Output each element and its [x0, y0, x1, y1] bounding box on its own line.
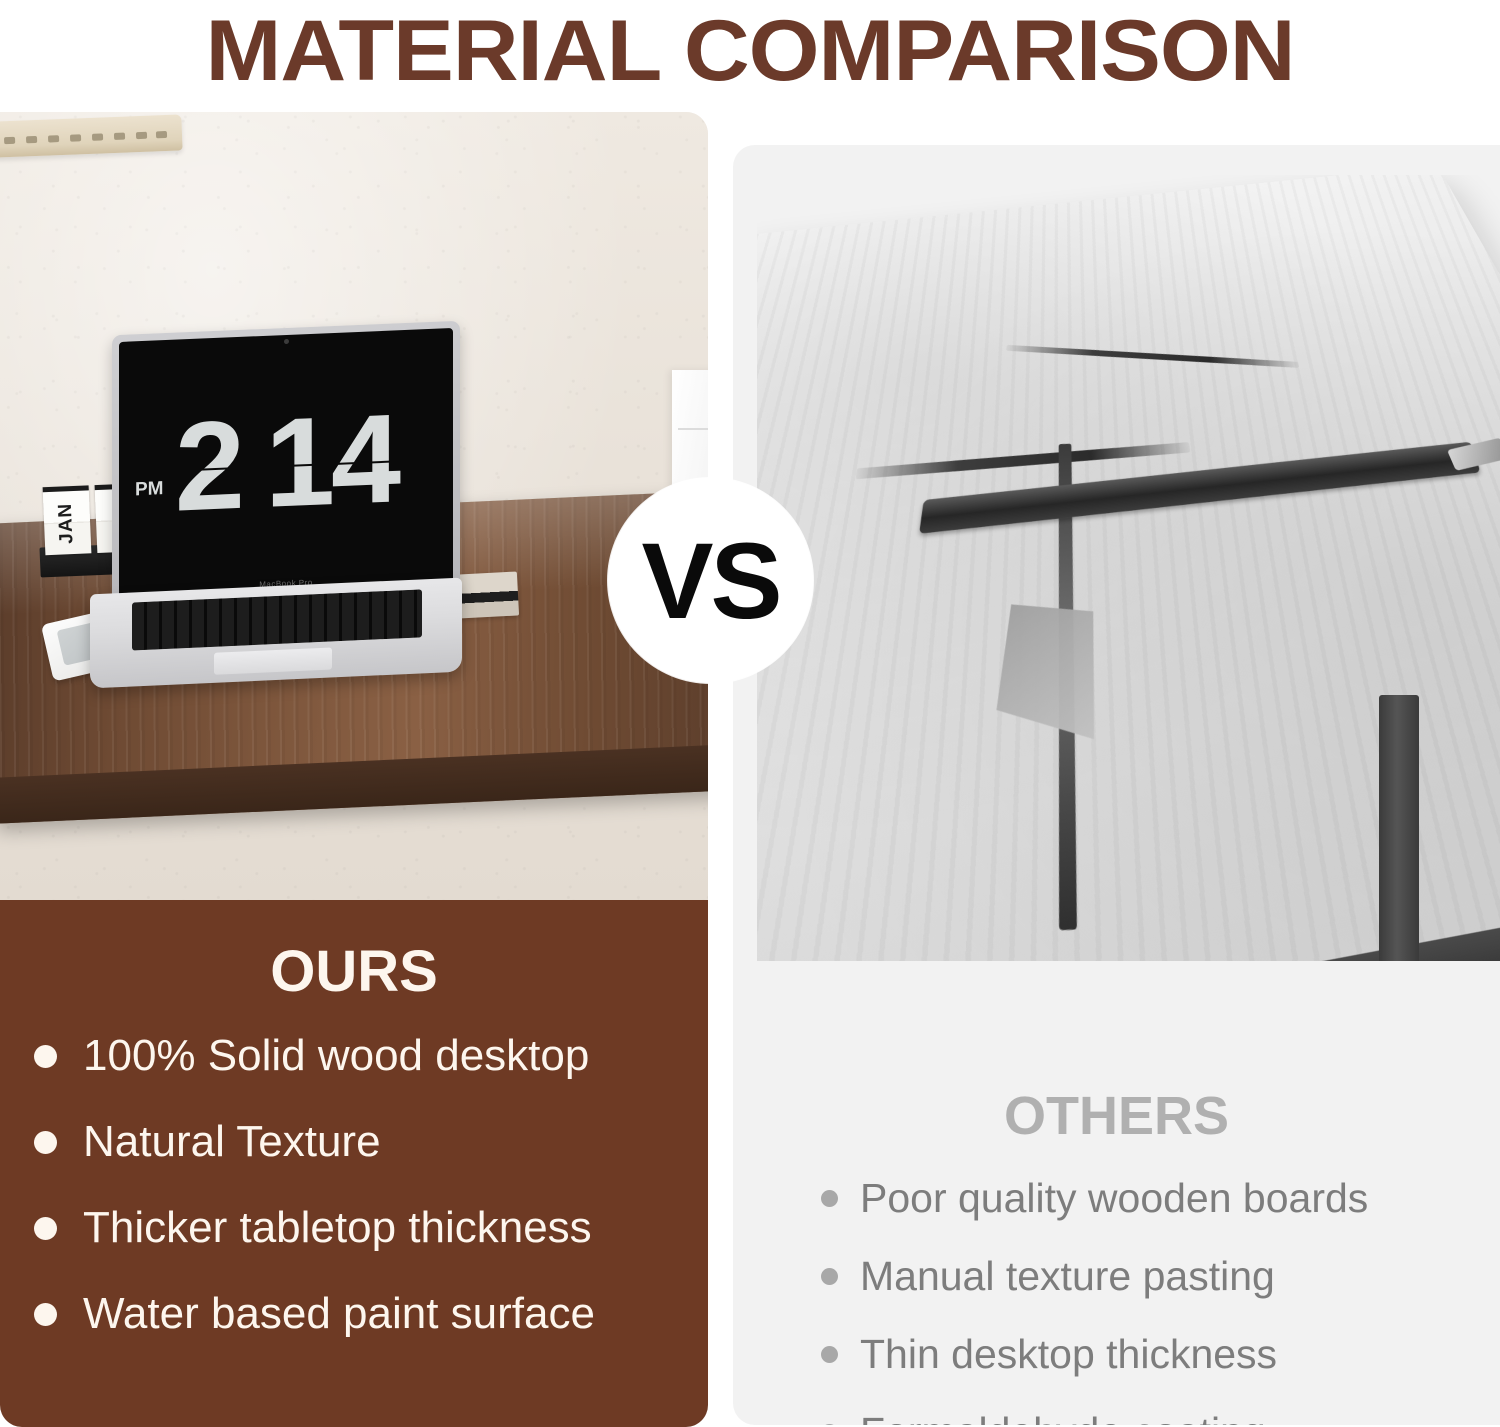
bullet-icon — [34, 1217, 57, 1240]
laptop-keyboard — [132, 589, 422, 650]
bullet-icon — [34, 1131, 57, 1154]
bullet-icon — [821, 1346, 838, 1363]
list-item-label: 100% Solid wood desktop — [83, 1031, 589, 1081]
list-item: Thin desktop thickness — [821, 1331, 1481, 1377]
others-heading: OTHERS — [733, 1085, 1500, 1147]
list-item-label: Poor quality wooden boards — [860, 1175, 1368, 1221]
pegboard-shelf-icon — [0, 114, 183, 157]
list-item-label: Thicker tabletop thickness — [83, 1203, 592, 1253]
list-item-label: Manual texture pasting — [860, 1253, 1275, 1299]
clock-hour: 2 — [175, 409, 241, 522]
list-item: 100% Solid wood desktop — [34, 1031, 682, 1081]
bullet-icon — [34, 1303, 57, 1326]
bullet-icon — [34, 1045, 57, 1068]
ours-photo: JAN 0 1 PM 2 14 MacBook Pro — [0, 112, 708, 900]
others-column: OTHERS Poor quality wooden boards Manual… — [733, 145, 1500, 1425]
flip-clock: 2 14 — [119, 328, 453, 597]
others-photo — [757, 175, 1500, 961]
ours-heading: OURS — [0, 938, 708, 1005]
list-item: Water based paint surface — [34, 1289, 682, 1339]
list-item: Thicker tabletop thickness — [34, 1203, 682, 1253]
list-item-label: Natural Texture — [83, 1117, 381, 1167]
bullet-icon — [821, 1268, 838, 1285]
laptop: PM 2 14 MacBook Pro — [90, 328, 462, 680]
laptop-lid: PM 2 14 MacBook Pro — [112, 321, 460, 608]
list-item: Natural Texture — [34, 1117, 682, 1167]
laptop-trackpad — [214, 647, 332, 674]
list-item: Manual texture pasting — [821, 1253, 1481, 1299]
bullet-icon — [821, 1424, 838, 1426]
list-item: Poor quality wooden boards — [821, 1175, 1481, 1221]
list-item-label: Thin desktop thickness — [860, 1331, 1277, 1377]
list-item-label: Formaldehyde coating — [860, 1409, 1266, 1425]
laptop-screen: PM 2 14 MacBook Pro — [119, 328, 453, 597]
ours-panel: OURS 100% Solid wood desktop Natural Tex… — [0, 900, 708, 1427]
calendar-month: JAN — [43, 485, 92, 555]
laptop-base — [90, 578, 462, 689]
metal-table-leg — [1379, 695, 1419, 961]
material-comparison-infographic: MATERIAL COMPARISON JAN 0 1 — [0, 0, 1500, 1427]
others-feature-list: Poor quality wooden boards Manual textur… — [821, 1175, 1481, 1425]
list-item-label: Water based paint surface — [83, 1289, 595, 1339]
vs-badge: VS — [608, 478, 813, 683]
vs-label: VS — [641, 527, 779, 635]
list-item: Formaldehyde coating — [821, 1409, 1481, 1425]
bullet-icon — [821, 1190, 838, 1207]
page-title: MATERIAL COMPARISON — [0, 2, 1500, 100]
clock-minute: 14 — [265, 403, 397, 519]
ours-feature-list: 100% Solid wood desktop Natural Texture … — [0, 1031, 708, 1339]
